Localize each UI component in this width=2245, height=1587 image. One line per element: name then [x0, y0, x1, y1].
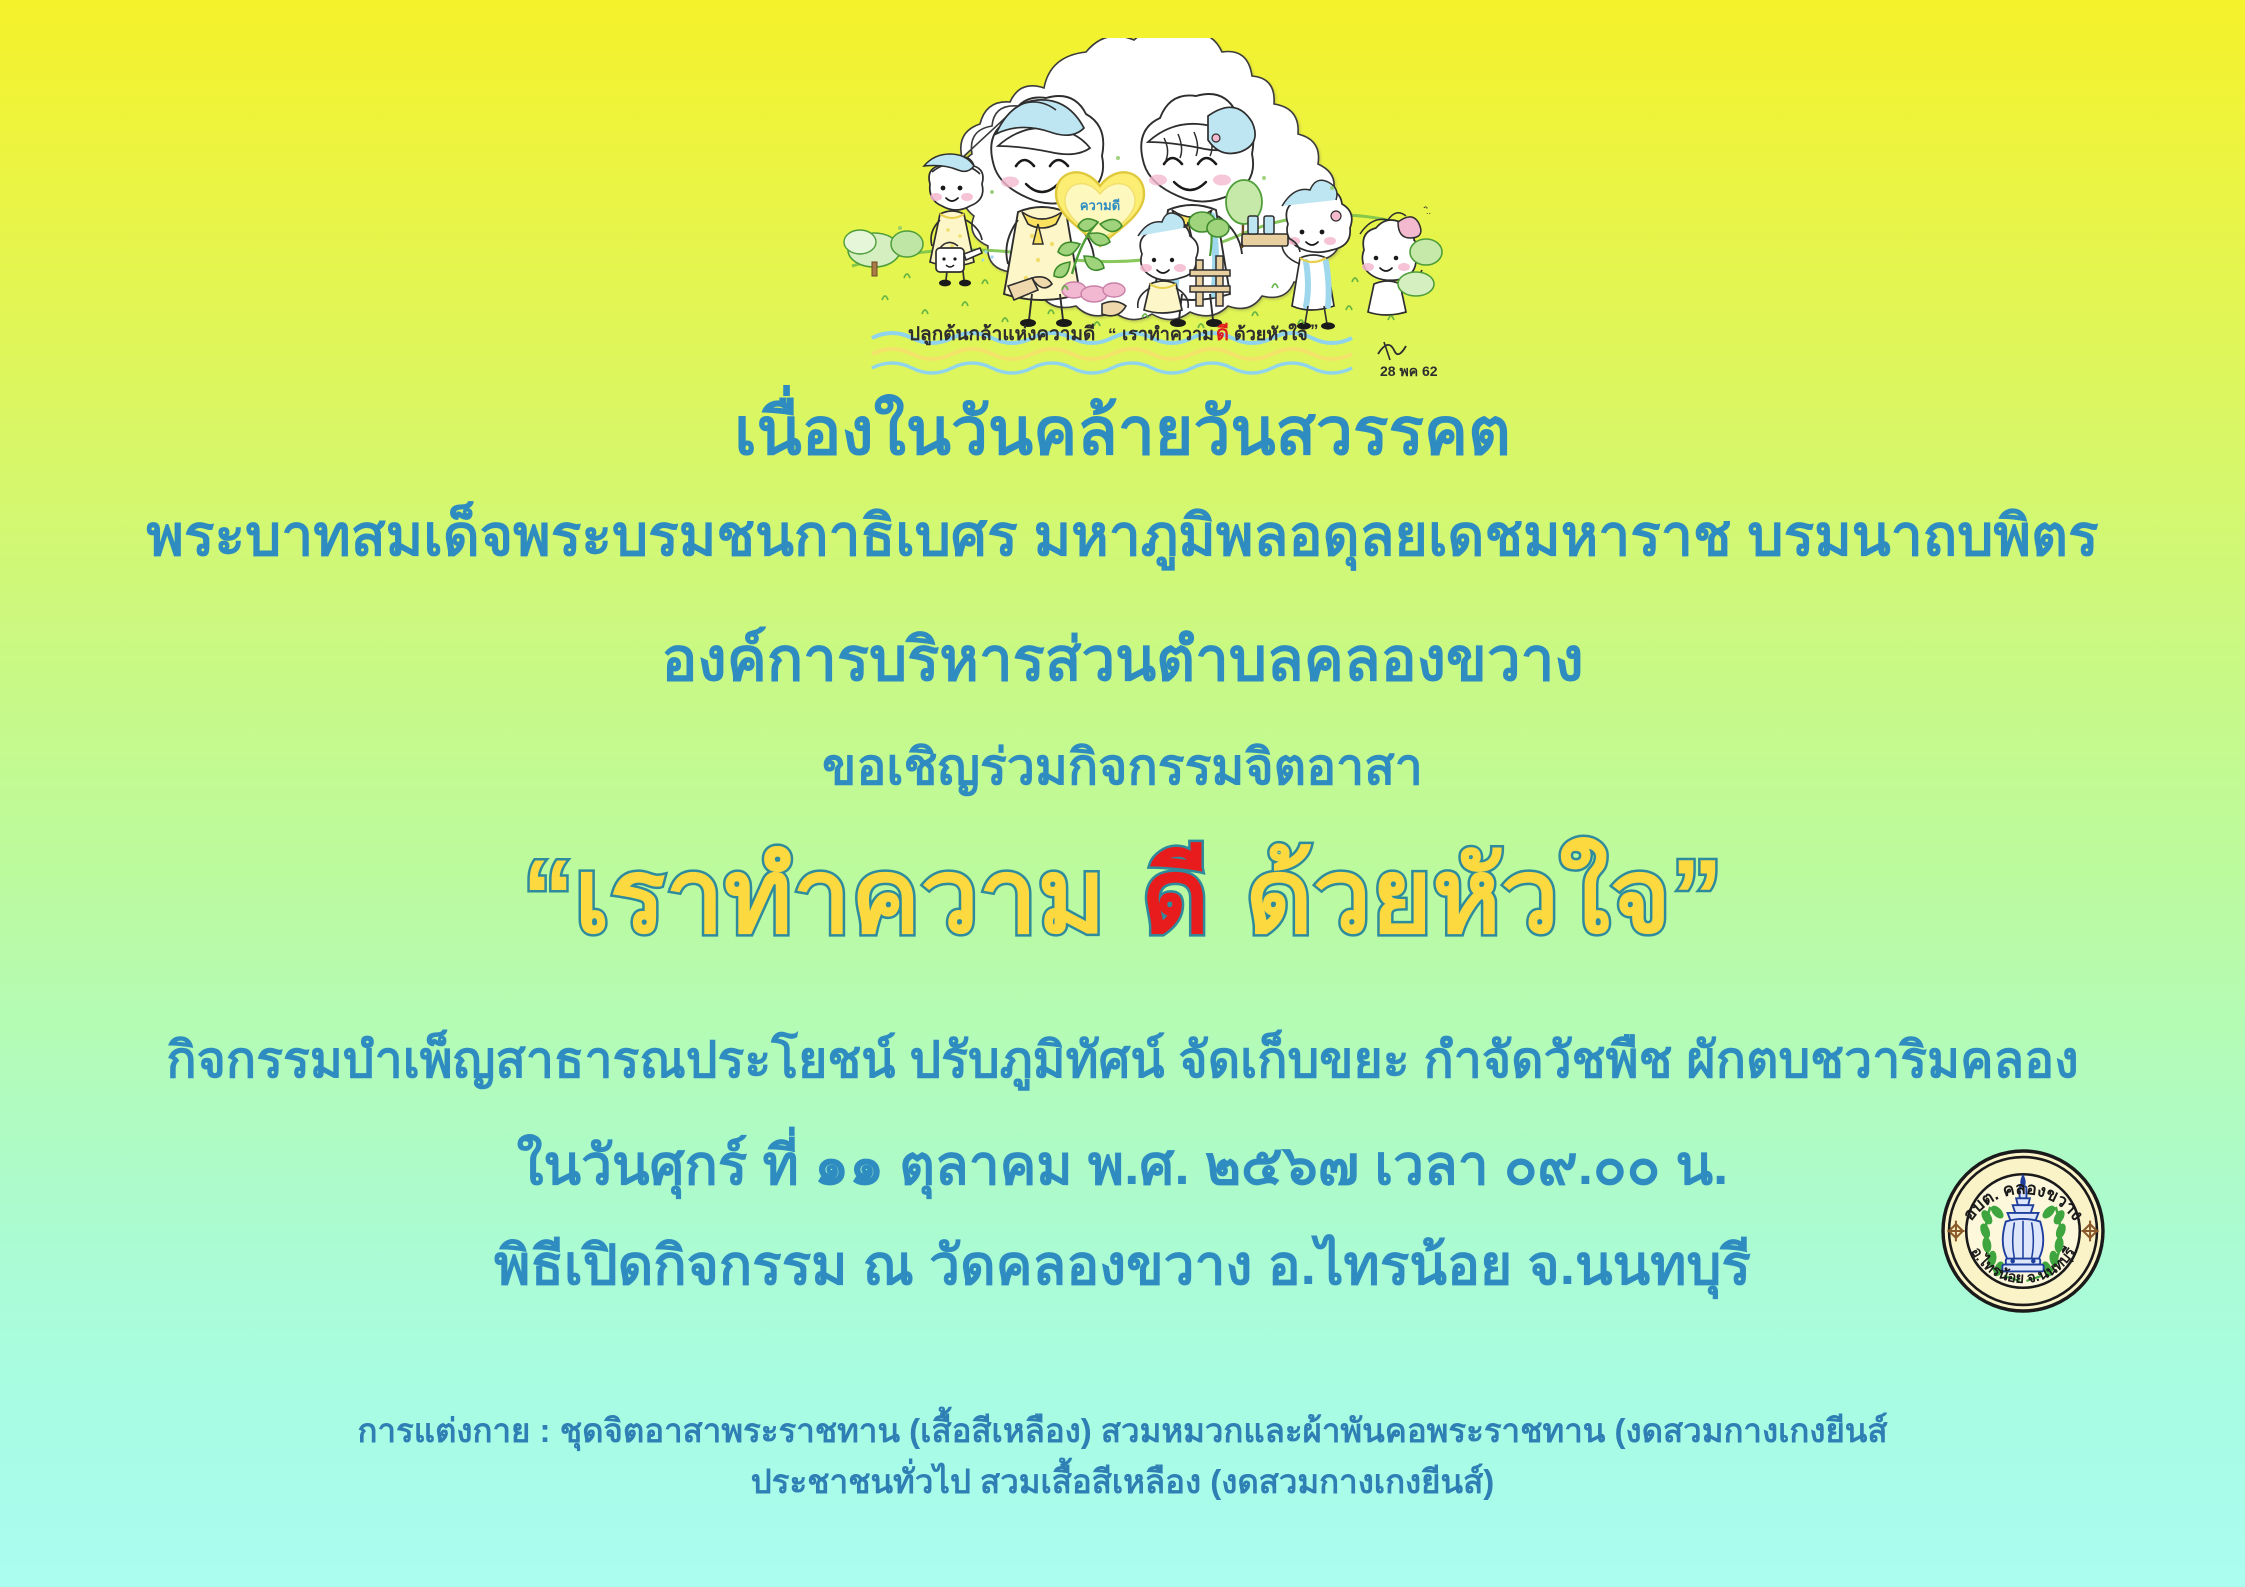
- slogan-highlight-word: ดี: [1142, 839, 1210, 955]
- svg-text:“: “: [1108, 325, 1117, 344]
- detail-place: พิธีเปิดกิจกรรม ณ วัดคลองขวาง อ.ไทรน้อย …: [0, 1238, 2245, 1293]
- bush-cluster-left: [844, 230, 923, 276]
- illustration-caption: ปลูกต้นกล้าแห่งความดี “ เราทำความ ดี ด้ว…: [908, 321, 1319, 346]
- slogan-open-quote: “: [522, 839, 574, 955]
- svg-text:”: ”: [1310, 321, 1319, 340]
- heading-organization: องค์การบริหารส่วนตำบลคลองขวาง: [0, 630, 2245, 690]
- detail-datetime: ในวันศุกร์ ที่ ๑๑ ตุลาคม พ.ศ. ๒๕๖๗ เวลา …: [0, 1138, 2245, 1193]
- child-with-hoe: .ิ.: [1360, 206, 1442, 315]
- dress-code-line-2: ประชาชนทั่วไป สวมเสื้อสีเหลือง (งดสวมกาง…: [0, 1456, 2245, 1507]
- slogan-close-quote: ”: [1671, 839, 1723, 955]
- poster-canvas: ความดี: [0, 0, 2245, 1587]
- campaign-slogan: “เราทำความดีด้วยหัวใจ”: [0, 845, 2245, 949]
- volunteer-cartoon-illustration: ความดี: [812, 38, 1462, 386]
- caption-plain: ปลูกต้นกล้าแห่งความดี: [908, 323, 1095, 346]
- organization-seal: อบต. คลองขวาง อ.ไทรน้อย จ.นนทบุรี: [1937, 1145, 2109, 1317]
- heading-king-title: พระบาทสมเด็จพระบรมชนกาธิเบศร มหาภูมิพลอด…: [0, 508, 2245, 565]
- caption-quote-post: ด้วยหัวใจ: [1234, 323, 1308, 344]
- caption-quote-pre: เราทำความ: [1122, 324, 1214, 344]
- svg-text:.ิ.: .ิ.: [1424, 206, 1432, 216]
- caption-quote-red: ดี: [1216, 322, 1229, 345]
- signature-date: 28 พค 62: [1380, 363, 1438, 379]
- dress-code-block: การแต่งกาย : ชุดจิตอาสาพระราชทาน (เสื้อส…: [0, 1405, 2245, 1507]
- slogan-part-2: ด้วยหัวใจ: [1245, 839, 1671, 955]
- signature-mark: [1378, 342, 1406, 360]
- heart-label: ความดี: [1080, 198, 1120, 213]
- heading-occasion: เนื่องในวันคล้ายวันสวรรคต: [0, 398, 2245, 464]
- slogan-part-1: เราทำความ: [574, 839, 1106, 955]
- heading-invitation: ขอเชิญร่วมกิจกรรมจิตอาสา: [0, 742, 2245, 792]
- dress-code-line-1: การแต่งกาย : ชุดจิตอาสาพระราชทาน (เสื้อส…: [0, 1405, 2245, 1456]
- detail-activity: กิจกรรมบำเพ็ญสาธารณประโยชน์ ปรับภูมิทัศน…: [0, 1035, 2245, 1085]
